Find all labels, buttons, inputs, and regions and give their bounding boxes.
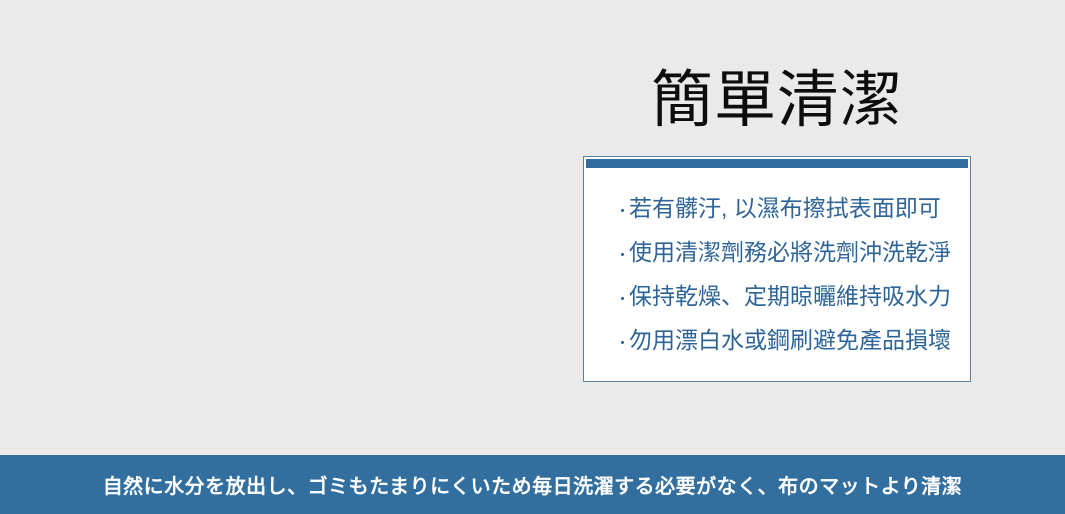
list-item-label: 使用清潔劑務必將洗劑沖洗乾淨 [629, 232, 951, 272]
cleaning-instructions-card: ・ 若有髒汙, 以濕布擦拭表面即可 ・ 使用清潔劑務必將洗劑沖洗乾淨 ・ 保持乾… [583, 156, 971, 382]
bullet-dot-icon: ・ [615, 324, 629, 364]
card-body: ・ 若有髒汙, 以濕布擦拭表面即可 ・ 使用清潔劑務必將洗劑沖洗乾淨 ・ 保持乾… [584, 168, 970, 381]
bullet-dot-icon: ・ [615, 192, 629, 232]
list-item-label: 若有髒汙, 以濕布擦拭表面即可 [629, 188, 941, 228]
instruction-list: ・ 若有髒汙, 以濕布擦拭表面即可 ・ 使用清潔劑務必將洗劑沖洗乾淨 ・ 保持乾… [584, 188, 970, 364]
list-item: ・ 保持乾燥、定期晾曬維持吸水力 [584, 276, 970, 320]
slide-canvas: 簡單清潔 ・ 若有髒汙, 以濕布擦拭表面即可 ・ 使用清潔劑務必將洗劑沖洗乾淨 … [0, 0, 1065, 514]
bottom-banner: 自然に水分を放出し、ゴミもたまりにくいため毎日洗濯する必要がなく、布のマットより… [0, 455, 1065, 514]
bullet-dot-icon: ・ [615, 236, 629, 276]
card-accent-bar [586, 159, 968, 168]
bullet-dot-icon: ・ [615, 280, 629, 320]
page-title: 簡單清潔 [583, 66, 971, 138]
list-item: ・ 勿用漂白水或鋼刷避免產品損壞 [584, 320, 970, 364]
list-item-label: 勿用漂白水或鋼刷避免產品損壞 [629, 320, 951, 360]
list-item: ・ 使用清潔劑務必將洗劑沖洗乾淨 [584, 232, 970, 276]
list-item-label: 保持乾燥、定期晾曬維持吸水力 [629, 276, 951, 316]
banner-caption: 自然に水分を放出し、ゴミもたまりにくいため毎日洗濯する必要がなく、布のマットより… [103, 470, 963, 499]
list-item: ・ 若有髒汙, 以濕布擦拭表面即可 [584, 188, 970, 232]
